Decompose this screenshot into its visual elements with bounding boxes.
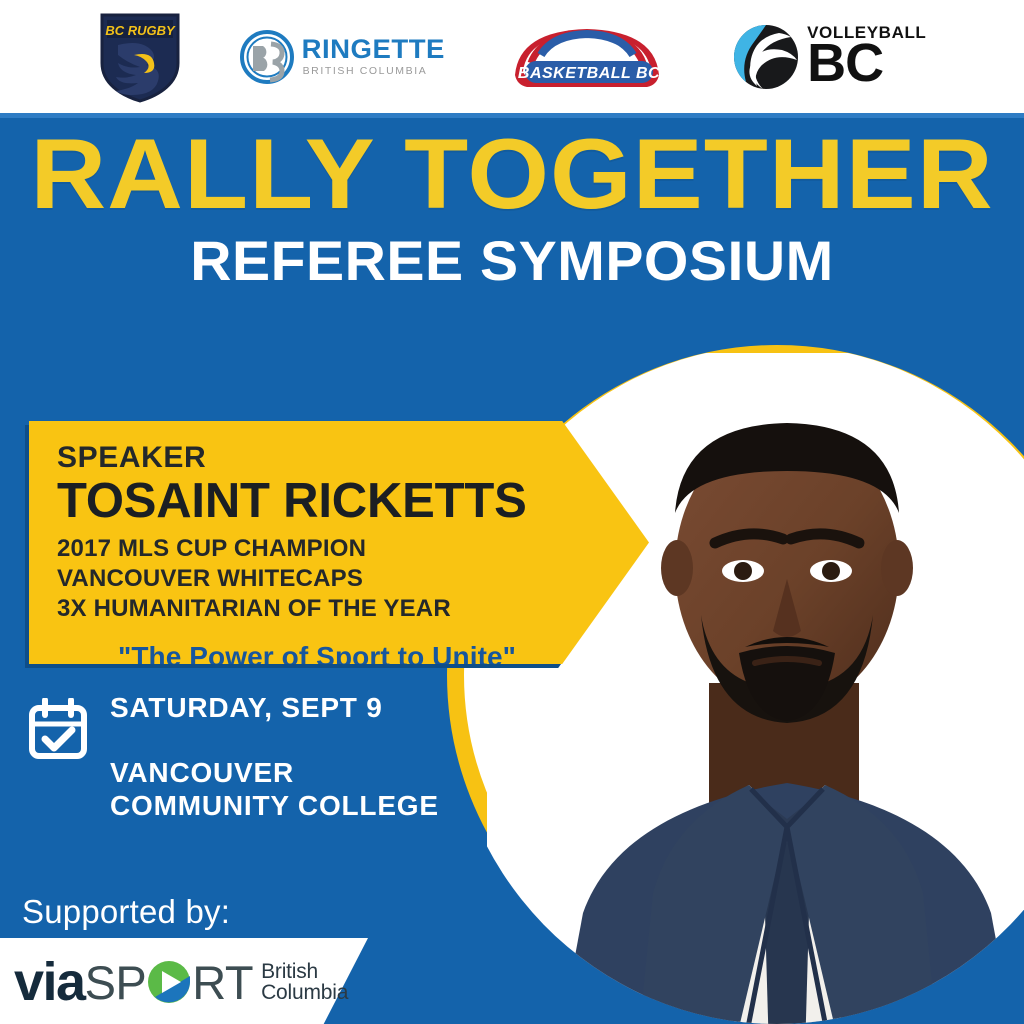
speaker-banner: SPEAKER TOSAINT RICKETTS 2017 MLS CUP CH… xyxy=(29,421,649,664)
volleyball-wordmark: VOLLEYBALL BC xyxy=(807,26,926,86)
poster-canvas: BC RUGBY RINGETTE BRITISH COLUMBIA xyxy=(0,0,1024,1024)
calendar-check-icon xyxy=(28,698,88,760)
event-venue-line2: COMMUNITY COLLEGE xyxy=(110,789,439,822)
headline-main: RALLY TOGETHER xyxy=(0,128,1024,219)
event-details: SATURDAY, SEPT 9 VANCOUVER COMMUNITY COL… xyxy=(28,694,439,822)
viasport-region-line2: Columbia xyxy=(261,982,348,1003)
event-date: SATURDAY, SEPT 9 xyxy=(110,694,439,722)
speaker-label: SPEAKER xyxy=(57,443,649,473)
viasport-via-text: via xyxy=(14,955,85,1009)
viasport-region-line1: British xyxy=(261,961,348,982)
speaker-credential-3: 3X HUMANITARIAN OF THE YEAR xyxy=(57,594,649,624)
bc-rugby-logo-icon: BC RUGBY xyxy=(98,11,182,103)
viasport-play-circle-icon xyxy=(147,960,191,1004)
speaker-credential-2: VANCOUVER WHITECAPS xyxy=(57,564,649,594)
event-venue-line1: VANCOUVER xyxy=(110,756,439,789)
viasport-logo: via SP RT British Columbia xyxy=(14,955,348,1009)
basketball-bc-logo-icon: BASKETBALL BC xyxy=(501,21,673,93)
svg-text:BC RUGBY: BC RUGBY xyxy=(105,23,176,38)
volleyball-bc-logo-icon xyxy=(731,22,801,92)
viasport-sp-text: SP xyxy=(85,959,147,1006)
viasport-rt-text: RT xyxy=(192,959,253,1006)
headline-sub: REFEREE SYMPOSIUM xyxy=(0,233,1024,289)
speaker-name: TOSAINT RICKETTS xyxy=(57,475,649,528)
ringette-bc-logo-icon xyxy=(240,30,294,84)
ringette-wordmark: RINGETTE BRITISH COLUMBIA xyxy=(303,36,444,77)
supported-by-label: Supported by: xyxy=(22,893,230,931)
partner-logo-ringette-bc: RINGETTE BRITISH COLUMBIA xyxy=(240,30,444,84)
ringette-subtitle: BRITISH COLUMBIA xyxy=(303,66,444,77)
svg-text:BASKETBALL BC: BASKETBALL BC xyxy=(518,65,660,82)
ringette-title: RINGETTE xyxy=(301,36,444,63)
partner-logo-bc-rugby: BC RUGBY xyxy=(98,11,182,103)
partner-logo-volleyball-bc: VOLLEYBALL BC xyxy=(731,22,926,92)
volleyball-bc-text: BC xyxy=(807,41,926,87)
partner-logo-basketball-bc: BASKETBALL BC xyxy=(501,21,673,93)
event-text: SATURDAY, SEPT 9 VANCOUVER COMMUNITY COL… xyxy=(110,694,439,822)
headline-block: RALLY TOGETHER REFEREE SYMPOSIUM xyxy=(0,128,1024,289)
logo-bar-divider xyxy=(0,113,1024,118)
viasport-region: British Columbia xyxy=(261,961,348,1004)
partner-logo-bar: BC RUGBY RINGETTE BRITISH COLUMBIA xyxy=(0,0,1024,113)
speaker-credential-1: 2017 MLS CUP CHAMPION xyxy=(57,534,649,564)
